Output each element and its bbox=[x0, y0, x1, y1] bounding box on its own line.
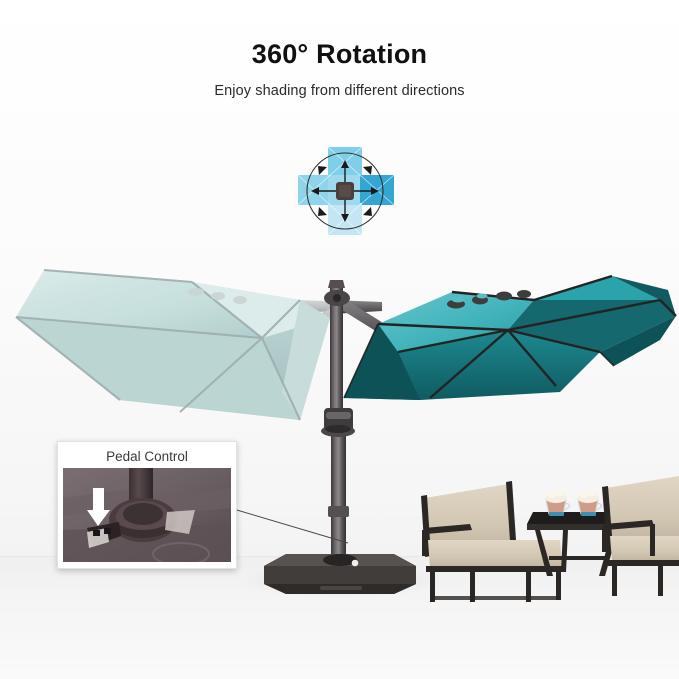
pedal-photo-illustration bbox=[63, 468, 231, 562]
chaise-right-arm-post bbox=[602, 526, 607, 552]
umbrella-scene bbox=[0, 0, 679, 679]
chaise-left-stretcher bbox=[430, 596, 560, 600]
pedal-control-title: Pedal Control bbox=[63, 447, 231, 468]
pedal-control-callout: Pedal Control bbox=[57, 441, 237, 569]
chaise-left-arm-post bbox=[422, 530, 427, 556]
pedal-lever-notch-1 bbox=[93, 530, 100, 536]
chaise-right-leg-1 bbox=[612, 564, 617, 596]
pole-top-cap bbox=[328, 280, 345, 288]
pole-canopy-knuckle bbox=[324, 290, 350, 306]
chaise-right-arm-post-2 bbox=[650, 524, 655, 556]
base-side-face bbox=[264, 566, 416, 584]
product-feature-image: 360° Rotation Enjoy shading from differe… bbox=[0, 0, 679, 679]
page-subtitle: Enjoy shading from different directions bbox=[0, 83, 679, 99]
rotation-hub-inner bbox=[339, 185, 351, 197]
drink-2-cream-swirl bbox=[579, 490, 589, 498]
umbrella-current-position bbox=[332, 276, 676, 400]
base-pole-socket bbox=[323, 554, 357, 566]
chaise-right-back-cushion bbox=[606, 476, 679, 544]
chaise-left-seat-frame bbox=[426, 566, 564, 572]
callout-leader-line bbox=[230, 505, 350, 545]
drink-1-base bbox=[549, 512, 564, 516]
base-pedal-indicator bbox=[352, 560, 359, 567]
chaise-right-seat-frame bbox=[608, 560, 679, 566]
heading-group: 360° Rotation Enjoy shading from differe… bbox=[0, 40, 679, 99]
umbrella-base-group bbox=[228, 554, 452, 600]
drink-1-cream-swirl bbox=[547, 490, 557, 498]
base-groove bbox=[320, 586, 362, 590]
chaise-right-leg-2 bbox=[658, 564, 663, 596]
page-title: 360° Rotation bbox=[0, 40, 679, 70]
chaise-lounge-right bbox=[602, 476, 679, 596]
patio-furniture-group bbox=[421, 476, 679, 602]
pedal-lever-notch-2 bbox=[104, 528, 111, 534]
umbrella-previous-position bbox=[16, 270, 352, 420]
drink-2-cream-swirl-2 bbox=[588, 490, 596, 497]
rotation-joint-collar bbox=[321, 408, 355, 437]
leader-line-stroke bbox=[230, 508, 348, 543]
chaise-left-leg-4 bbox=[556, 570, 561, 600]
drink-1-cream-swirl-2 bbox=[556, 490, 564, 497]
pedal-control-photo bbox=[63, 468, 231, 562]
side-table-leg-3 bbox=[561, 530, 568, 572]
side-table-stretcher bbox=[549, 556, 607, 560]
360-rotation-diagram-icon bbox=[294, 143, 398, 239]
drink-2-base bbox=[581, 512, 596, 516]
pedal-collar-inner bbox=[123, 503, 163, 525]
umbrella-pole-lower bbox=[331, 418, 346, 570]
chaise-right-seat-cushion bbox=[610, 536, 679, 562]
